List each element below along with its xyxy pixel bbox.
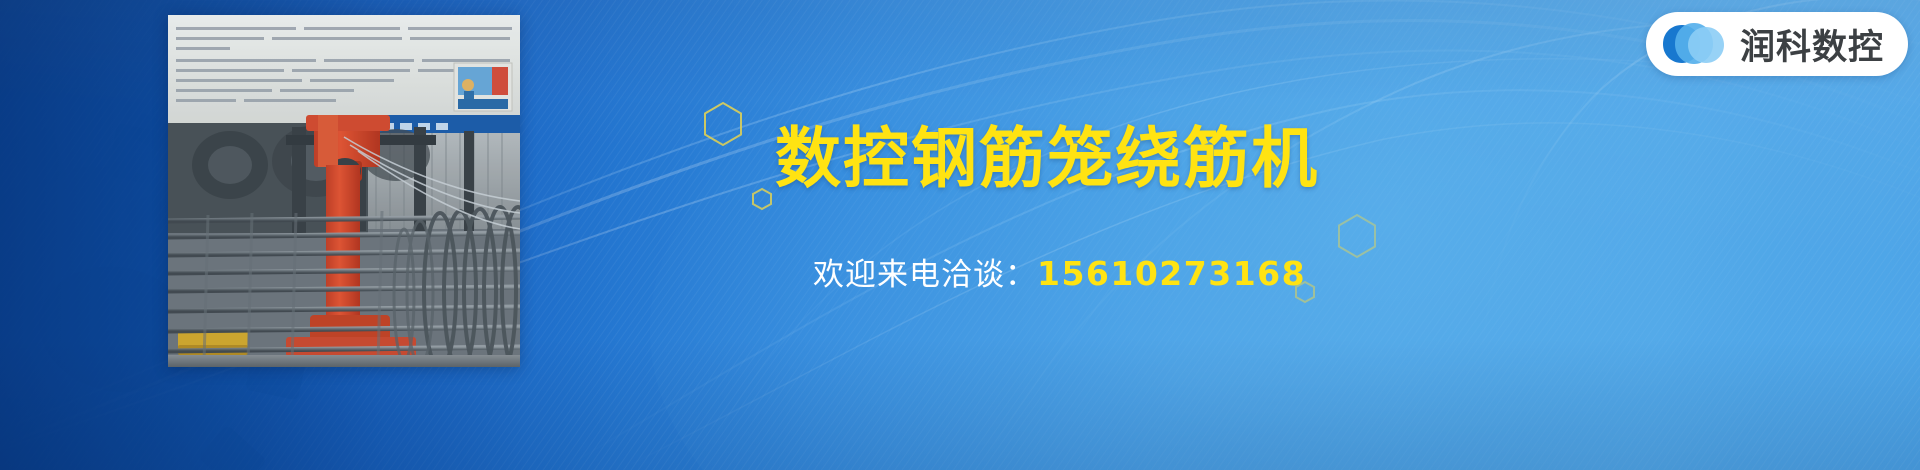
- overlapping-drops-icon: [1658, 21, 1726, 67]
- brand-logo[interactable]: 润科数控: [1646, 12, 1908, 76]
- product-photo: [168, 15, 520, 367]
- contact-phone[interactable]: 15610273168: [1037, 254, 1306, 293]
- contact-line: 欢迎来电洽谈：15610273168: [775, 192, 1505, 292]
- product-photo-image: [168, 15, 520, 367]
- contact-label: 欢迎来电洽谈：: [813, 257, 1037, 293]
- headline-block: 数控钢筋笼绕筋机 欢迎来电洽谈：15610273168: [775, 126, 1505, 292]
- brand-name: 润科数控: [1740, 19, 1884, 70]
- promo-banner: 数控钢筋笼绕筋机 欢迎来电洽谈：15610273168 润科数控: [0, 0, 1920, 470]
- page-title: 数控钢筋笼绕筋机: [775, 126, 1505, 192]
